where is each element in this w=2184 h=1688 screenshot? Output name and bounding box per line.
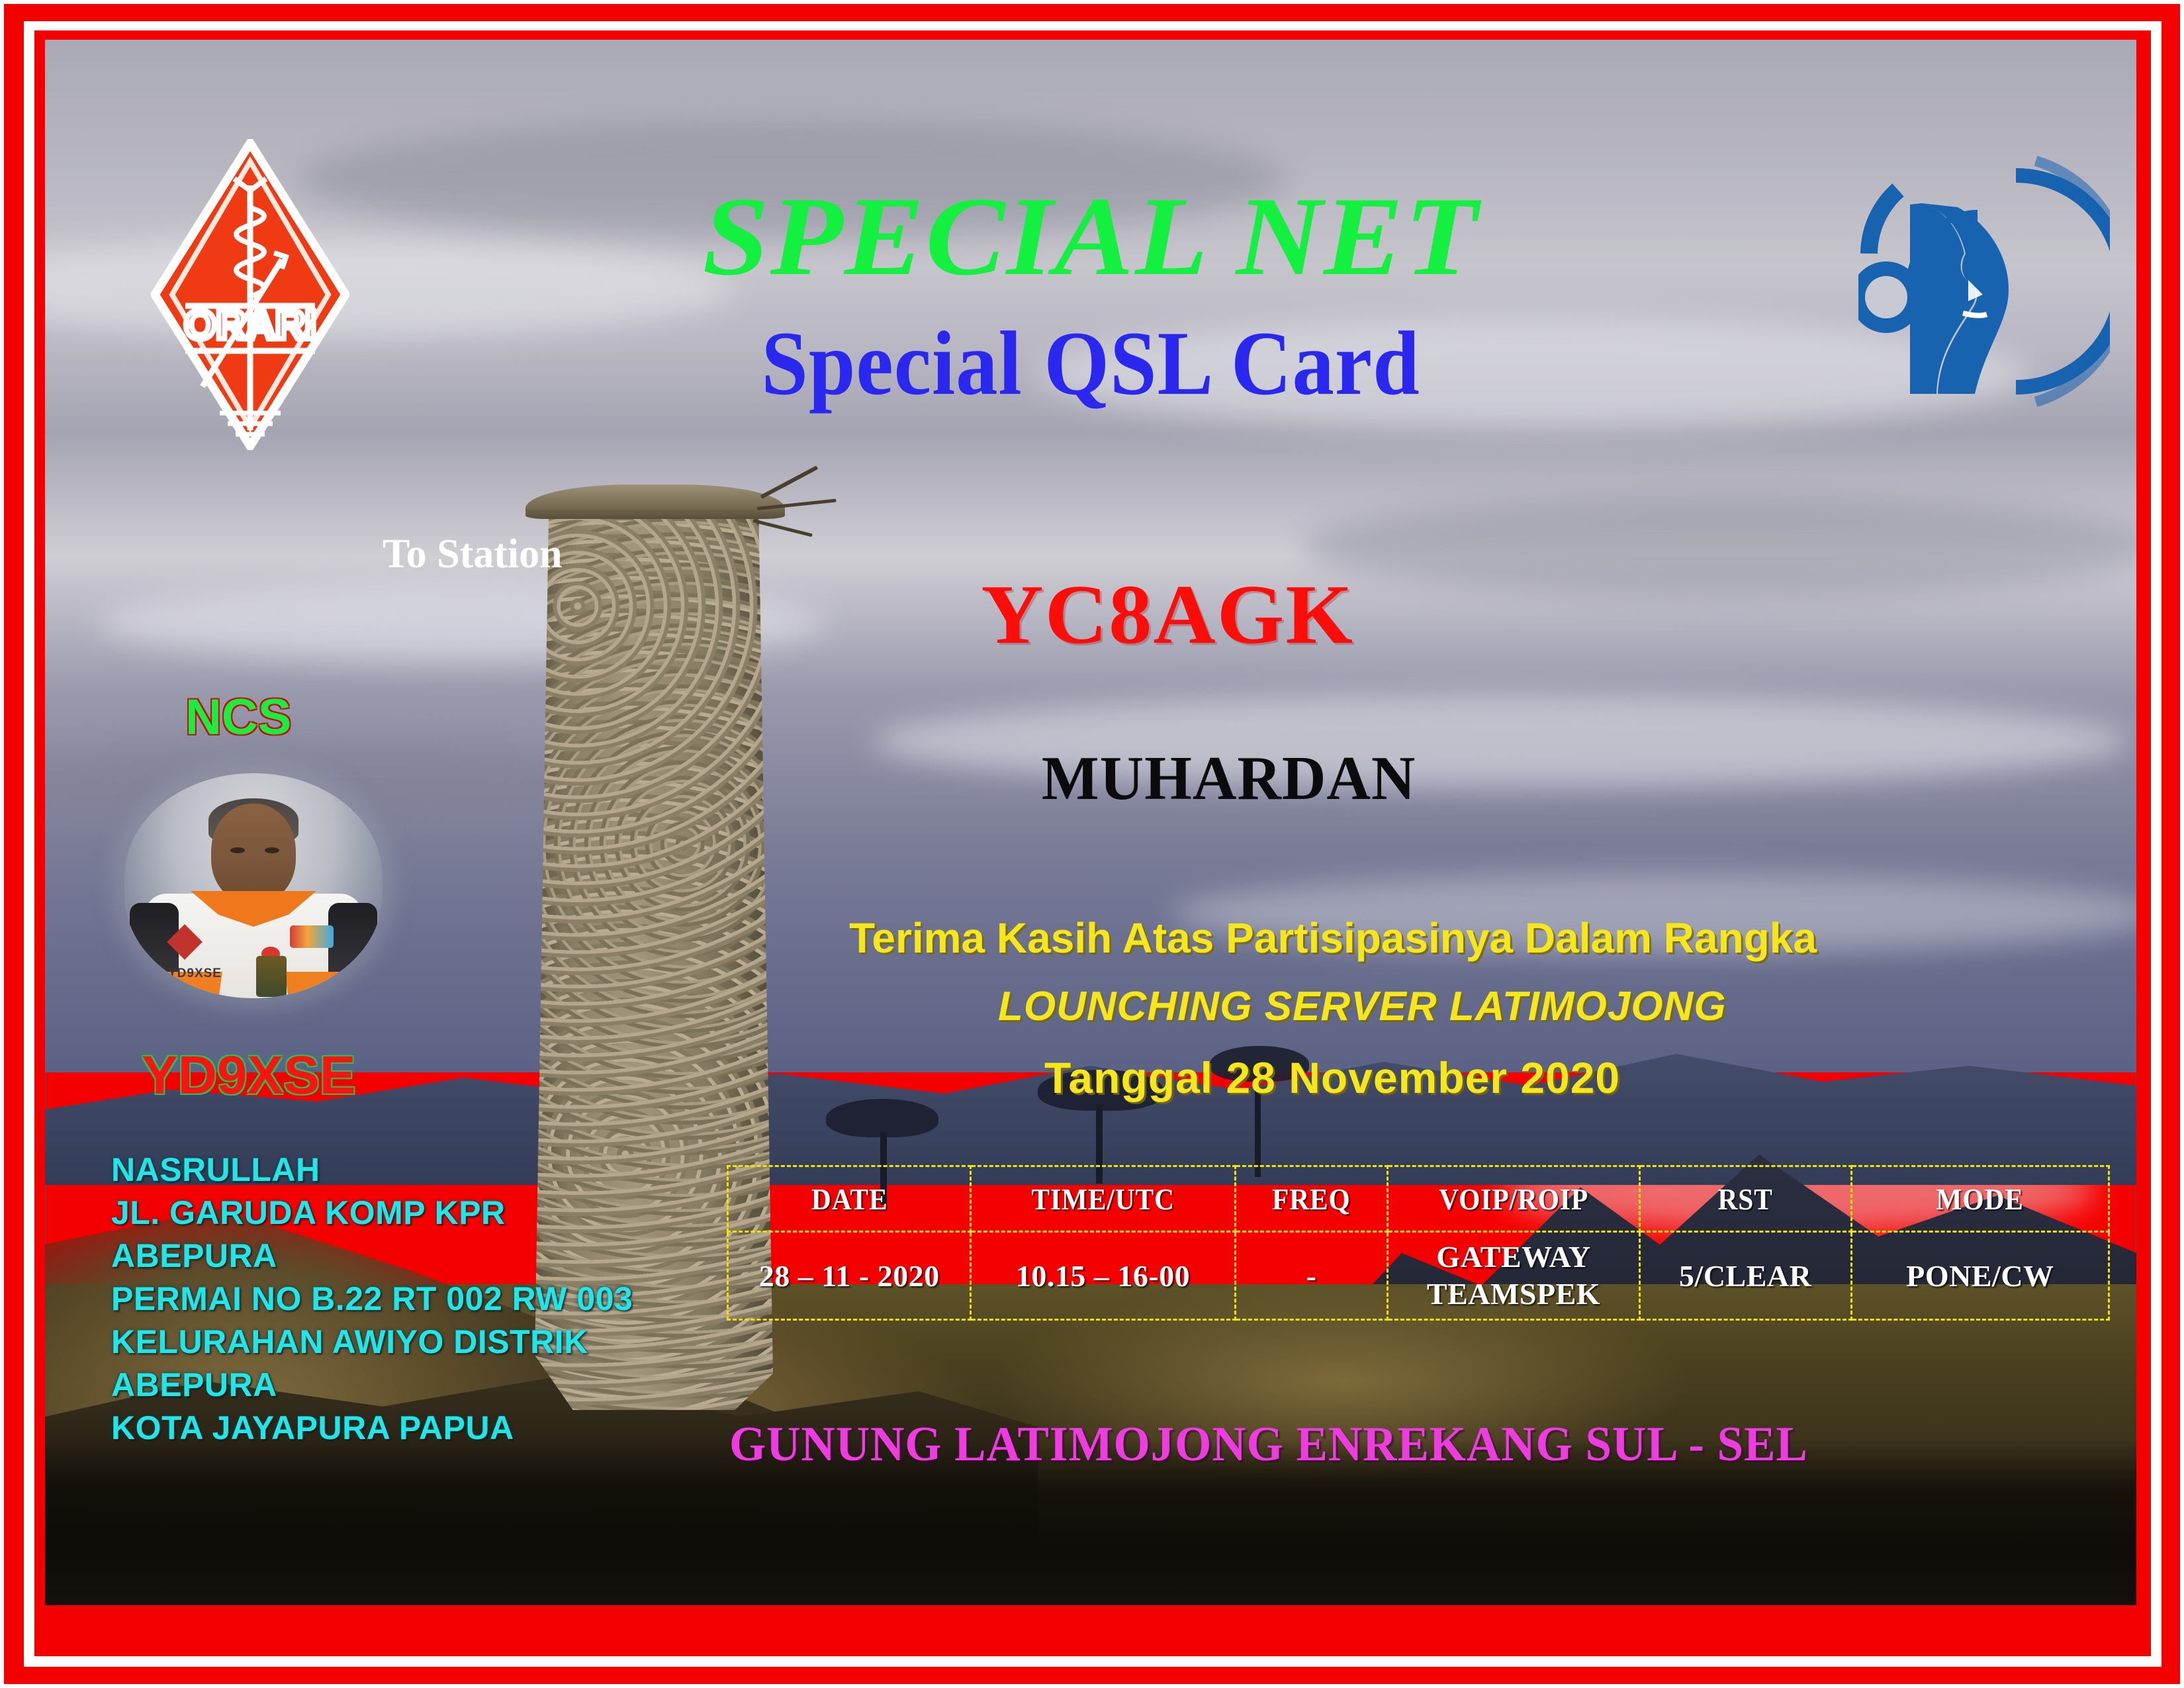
- qsl-card: ORARI: [0, 0, 2184, 1688]
- operator-name: MUHARDAN: [1042, 743, 1416, 814]
- header-date: DATE: [740, 1166, 959, 1232]
- ncs-callsign: YD9XSE: [142, 1045, 356, 1107]
- background-photo: ORARI: [45, 40, 2136, 1605]
- title-special-net: SPECIAL NET: [45, 180, 2136, 293]
- cell-voip-roip-line1: GATEWAY: [1388, 1239, 1638, 1276]
- header-time-utc: TIME/UTC: [984, 1166, 1222, 1232]
- photo-orange-band: [285, 972, 347, 998]
- photo-id-badge: [256, 956, 287, 997]
- cloud-band: [1302, 496, 2136, 596]
- photo-head: [211, 804, 296, 903]
- header-rst: RST: [1650, 1166, 1841, 1232]
- cell-freq: -: [1235, 1232, 1388, 1320]
- location-line: GUNUNG LATIMOJONG ENREKANG SUL - SEL: [729, 1417, 1808, 1473]
- cell-mode: PONE/CW: [1851, 1232, 2109, 1320]
- address-line: PERMAI NO B.22 RT 002 RW 003: [111, 1278, 633, 1321]
- ncs-label: NCS: [185, 688, 291, 746]
- table-row: 28 – 11 - 2020 10.15 – 16-00 - GATEWAY T…: [728, 1232, 2109, 1320]
- cell-rst: 5/CLEAR: [1639, 1232, 1851, 1320]
- station-callsign: YC8AGK: [981, 566, 1353, 663]
- photo-eye: [230, 847, 245, 853]
- title-special-qsl-card: Special QSL Card: [128, 318, 2052, 409]
- header-voip-roip: VOIP/ROIP: [1400, 1166, 1627, 1232]
- address-line: ABEPURA: [111, 1235, 633, 1278]
- photo-shirt-callsign: YD9XSE: [168, 966, 222, 981]
- photo-eye: [265, 847, 279, 853]
- cell-voip-roip: GATEWAY TEAMSPEK: [1388, 1232, 1639, 1320]
- header-freq: FREQ: [1243, 1166, 1381, 1232]
- ncs-operator-photo: YD9XSE: [124, 773, 383, 998]
- ncs-address-block: NASRULLAH JL. GARUDA KOMP KPR ABEPURA PE…: [111, 1149, 633, 1450]
- cell-date: 28 – 11 - 2020: [728, 1232, 971, 1320]
- event-line: LOUNCHING SERVER LATIMOJONG: [998, 983, 1727, 1030]
- table-header-row: DATE TIME/UTC FREQ VOIP/ROIP RST MODE: [728, 1166, 2109, 1232]
- to-station-label: To Station: [383, 531, 563, 578]
- address-line: KOTA JAYAPURA PAPUA: [111, 1407, 633, 1450]
- thanks-line: Terima Kasih Atas Partisipasinya Dalam R…: [849, 914, 1817, 962]
- address-line: ABEPURA: [111, 1364, 633, 1407]
- cell-time-utc: 10.15 – 16-00: [971, 1232, 1235, 1320]
- address-line: NASRULLAH: [111, 1149, 633, 1192]
- photo-chest-logo: [290, 925, 334, 948]
- qso-details-table: DATE TIME/UTC FREQ VOIP/ROIP RST MODE 28…: [727, 1165, 2110, 1321]
- event-date-line: Tanggal 28 November 2020: [1044, 1053, 1620, 1103]
- cell-voip-roip-line2: TEAMSPEK: [1388, 1276, 1638, 1313]
- monument-cap: [525, 485, 785, 519]
- header-mode: MODE: [1864, 1166, 2096, 1232]
- address-line: KELURAHAN AWIYO DISTRIK: [111, 1321, 633, 1364]
- address-line: JL. GARUDA KOMP KPR: [111, 1192, 633, 1235]
